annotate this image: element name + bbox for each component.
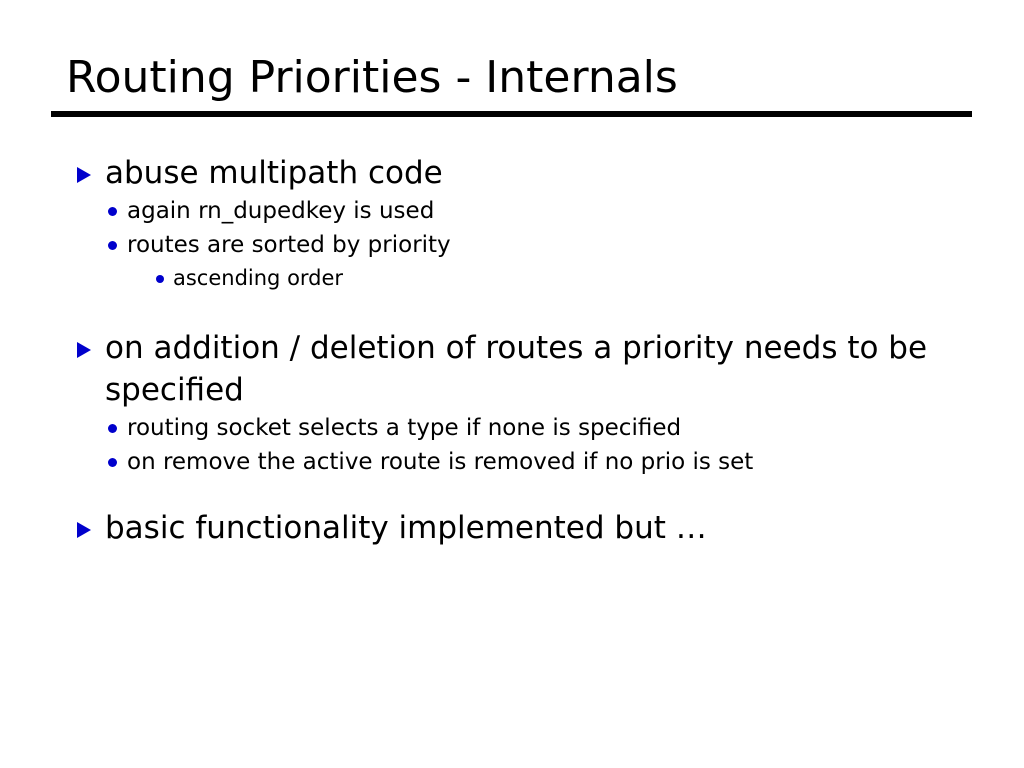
group-spacer: [0, 479, 1024, 507]
bullet-level2-label: on remove the active route is removed if…: [127, 449, 753, 475]
slide-title: Routing Priorities - Internals: [66, 50, 986, 106]
bullet-level1: abuse multipath code: [0, 152, 1024, 194]
bullet-level2: routing socket selects a type if none is…: [0, 411, 1024, 445]
round-dot-icon: [108, 458, 117, 467]
round-dot-icon: [108, 424, 117, 433]
bullet-level1: basic functionality implemented but …: [0, 507, 1024, 549]
group-spacer: [0, 295, 1024, 327]
round-dot-icon: [156, 275, 164, 283]
bullet-level2: again rn_dupedkey is used: [0, 194, 1024, 228]
bullet-level2: routes are sorted by priority: [0, 228, 1024, 262]
outline-group: abuse multipath code again rn_dupedkey i…: [0, 152, 1024, 295]
bullet-level2-label: routing socket selects a type if none is…: [127, 415, 681, 441]
title-underline-rule: [51, 111, 972, 117]
round-dot-icon: [108, 241, 117, 250]
bullet-level1-label: on addition / deletion of routes a prior…: [105, 330, 927, 408]
bullet-level1: on addition / deletion of routes a prior…: [0, 327, 1024, 411]
slide-body-outline: abuse multipath code again rn_dupedkey i…: [0, 152, 1024, 549]
bullet-level3-label: ascending order: [173, 266, 343, 290]
bullet-level1-label: basic functionality implemented but …: [105, 510, 707, 546]
bullet-level2-label: routes are sorted by priority: [127, 232, 451, 258]
bullet-level3: ascending order: [0, 262, 1024, 295]
slide: Routing Priorities - Internals abuse mul…: [0, 0, 1024, 768]
triangle-right-icon: [77, 342, 91, 358]
bullet-level2-label: again rn_dupedkey is used: [127, 198, 434, 224]
outline-group: on addition / deletion of routes a prior…: [0, 327, 1024, 479]
triangle-right-icon: [77, 167, 91, 183]
bullet-level1-label: abuse multipath code: [105, 155, 443, 191]
triangle-right-icon: [77, 522, 91, 538]
bullet-level2: on remove the active route is removed if…: [0, 445, 1024, 479]
outline-group: basic functionality implemented but …: [0, 507, 1024, 549]
round-dot-icon: [108, 207, 117, 216]
